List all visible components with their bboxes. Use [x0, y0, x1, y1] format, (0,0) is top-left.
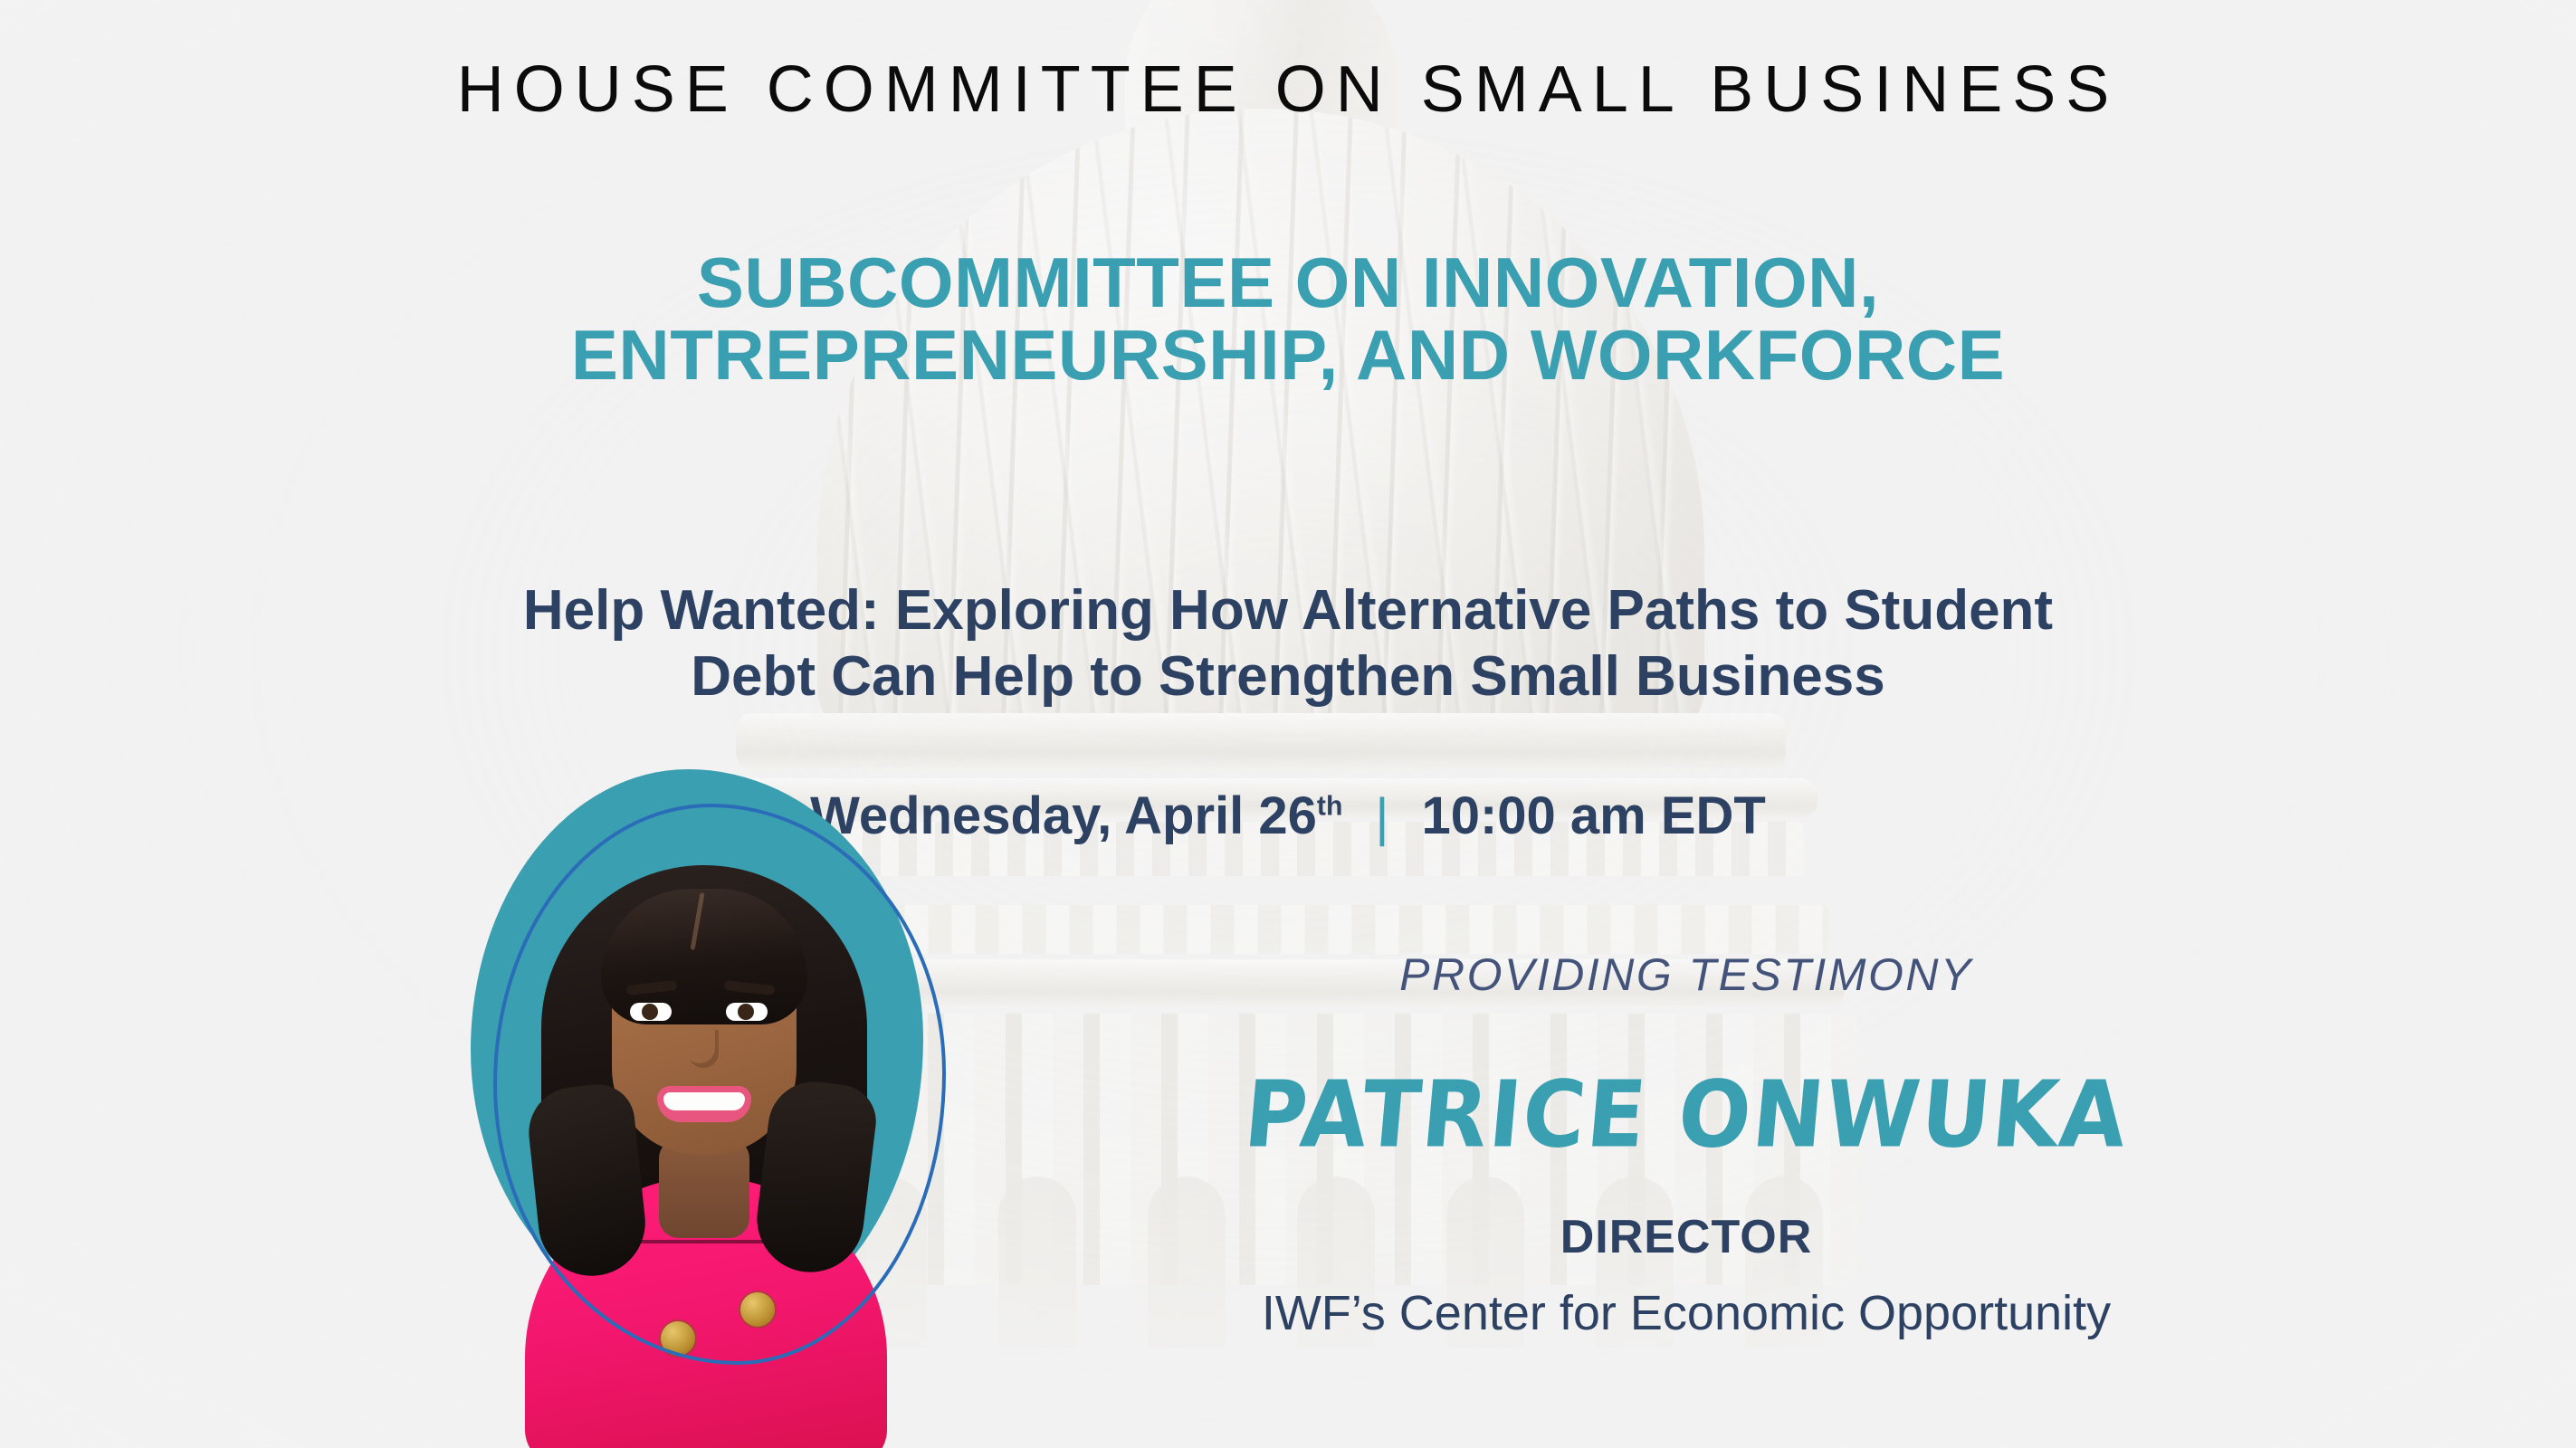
subcommittee-line-1: SUBCOMMITTEE ON INNOVATION, [697, 243, 1879, 322]
speaker-portrait [444, 760, 950, 1448]
speaker-role: DIRECTOR [797, 1210, 2576, 1264]
providing-testimony-label: PROVIDING TESTIMONY [797, 948, 2576, 1001]
subcommittee-line-2: ENTREPRENEURSHIP, AND WORKFORCE [0, 319, 2576, 391]
hearing-title-line-1: Help Wanted: Exploring How Alternative P… [523, 579, 2053, 642]
datetime-separator: | [1375, 787, 1388, 848]
committee-heading: HOUSE COMMITTEE ON SMALL BUSINESS [0, 52, 2576, 127]
hearing-time: 10:00 am EDT [1421, 786, 1765, 845]
subcommittee-heading: SUBCOMMITTEE ON INNOVATION, ENTREPRENEUR… [0, 246, 2576, 392]
hearing-datetime: Wednesday, April 26th|10:00 am EDT [0, 786, 2576, 846]
speaker-organization: IWF’s Center for Economic Opportunity [797, 1285, 2576, 1341]
hearing-date-ordinal: th [1317, 792, 1342, 822]
event-announcement-poster: HOUSE COMMITTEE ON SMALL BUSINESS SUBCOM… [0, 0, 2576, 1448]
speaker-name: PATRICE ONWUKA [792, 1062, 2576, 1169]
hearing-title: Help Wanted: Exploring How Alternative P… [0, 577, 2576, 710]
hearing-title-line-2: Debt Can Help to Strengthen Small Busine… [0, 643, 2576, 710]
poster-content: HOUSE COMMITTEE ON SMALL BUSINESS SUBCOM… [0, 0, 2576, 1448]
